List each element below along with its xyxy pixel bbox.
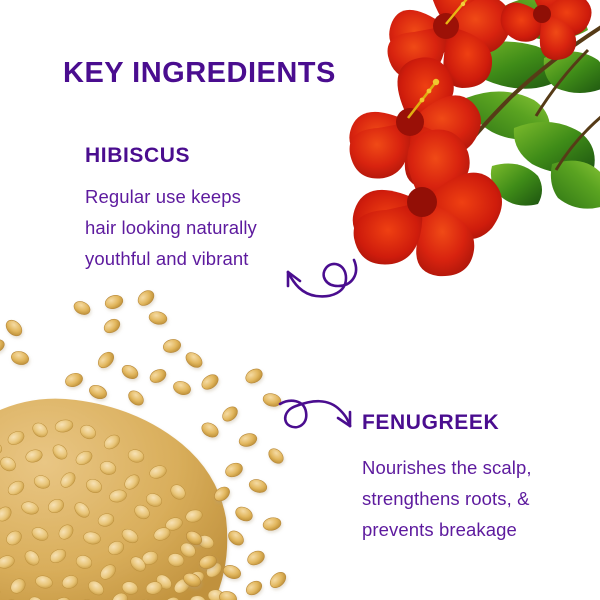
hibiscus-flowers-photo — [306, 0, 600, 278]
ingredient-description-fenugreek: Nourishes the scalp, strengthens roots, … — [362, 452, 532, 545]
fenugreek-scattered-seeds — [0, 287, 289, 600]
key-ingredients-poster: KEY INGREDIENTS HIBISCUS Regular use kee… — [0, 0, 600, 600]
hibiscus-flower-top — [388, 0, 512, 88]
fenugreek-seed-pile — [0, 399, 227, 600]
curved-arrow-down-right-icon — [276, 388, 366, 444]
fenugreek-pile-texture — [0, 418, 225, 600]
hibiscus-flower-right — [501, 0, 592, 60]
ingredient-heading-hibiscus: HIBISCUS — [85, 144, 190, 168]
hibiscus-flower-bottom — [353, 130, 502, 277]
page-title: KEY INGREDIENTS — [63, 57, 336, 90]
hibiscus-foliage — [452, 0, 600, 209]
ingredient-heading-fenugreek: FENUGREEK — [362, 411, 499, 435]
fenugreek-seeds-photo — [0, 280, 316, 600]
ingredient-description-hibiscus: Regular use keeps hair looking naturally… — [85, 181, 257, 274]
curved-arrow-up-left-icon — [268, 238, 368, 310]
hibiscus-flower-middle — [349, 57, 481, 188]
